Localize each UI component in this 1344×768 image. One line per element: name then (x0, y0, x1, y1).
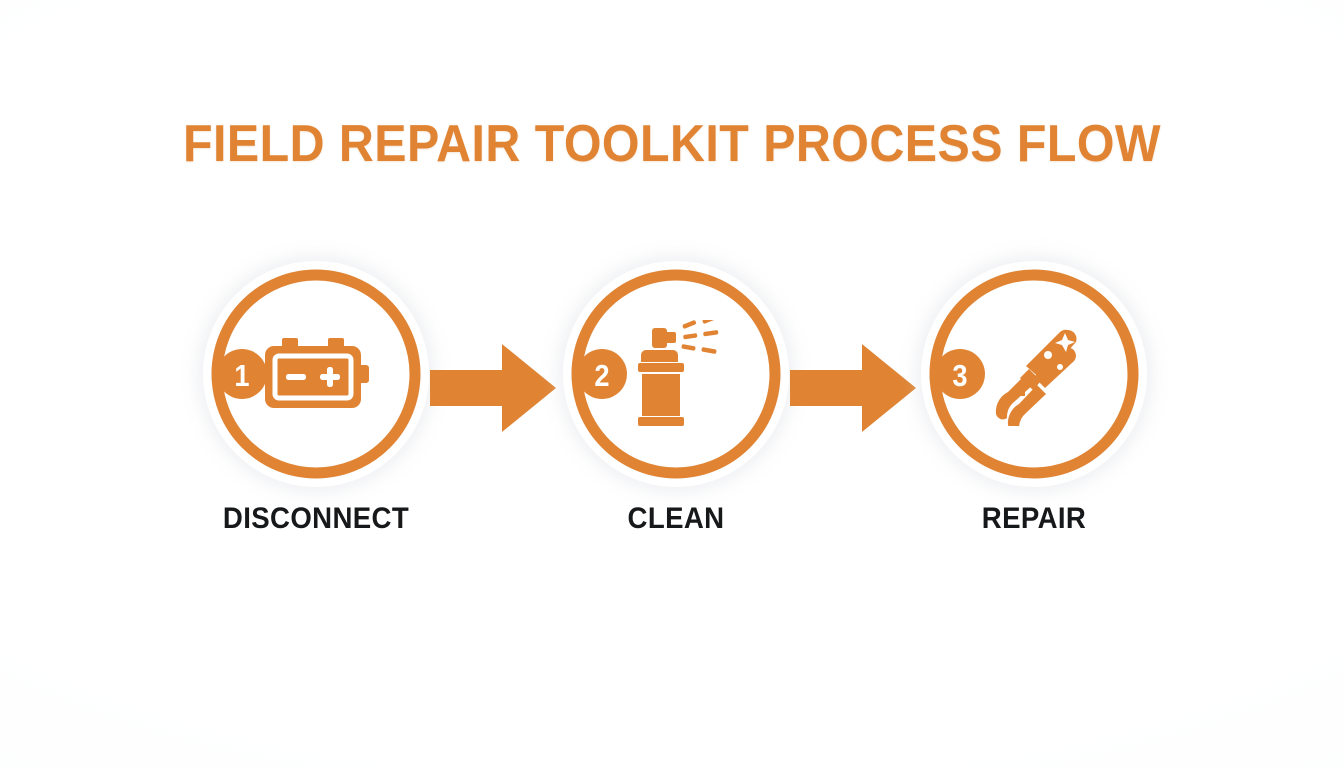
process-flow-infographic: FIELD REPAIR TOOLKIT PROCESS FLOW 1 (0, 0, 1344, 768)
arrow-right-icon-2 (788, 340, 918, 436)
step-1-label: DISCONNECT (182, 504, 451, 534)
flow-step-3[interactable]: 3 (928, 268, 1140, 480)
page-title: FIELD REPAIR TOOLKIT PROCESS FLOW (47, 118, 1297, 170)
wire-crimper-icon (982, 322, 1086, 426)
arrow-right-icon-1 (428, 340, 558, 436)
step-2-icon-holder (570, 268, 782, 480)
step-1-circle[interactable]: 1 (210, 268, 422, 480)
step-2-circle[interactable]: 2 (570, 268, 782, 480)
step-2-label: CLEAN (542, 504, 811, 534)
battery-icon (262, 335, 370, 413)
step-1-icon-holder (210, 268, 422, 480)
spray-can-icon (626, 320, 726, 428)
flow-row: 1 DISCONNECT (0, 268, 1344, 558)
step-3-circle[interactable]: 3 (928, 268, 1140, 480)
step-3-label: REPAIR (900, 504, 1169, 534)
flow-step-1[interactable]: 1 DISCONNECT (210, 268, 422, 480)
flow-step-2[interactable]: 2 (570, 268, 782, 480)
step-3-icon-holder (928, 268, 1140, 480)
